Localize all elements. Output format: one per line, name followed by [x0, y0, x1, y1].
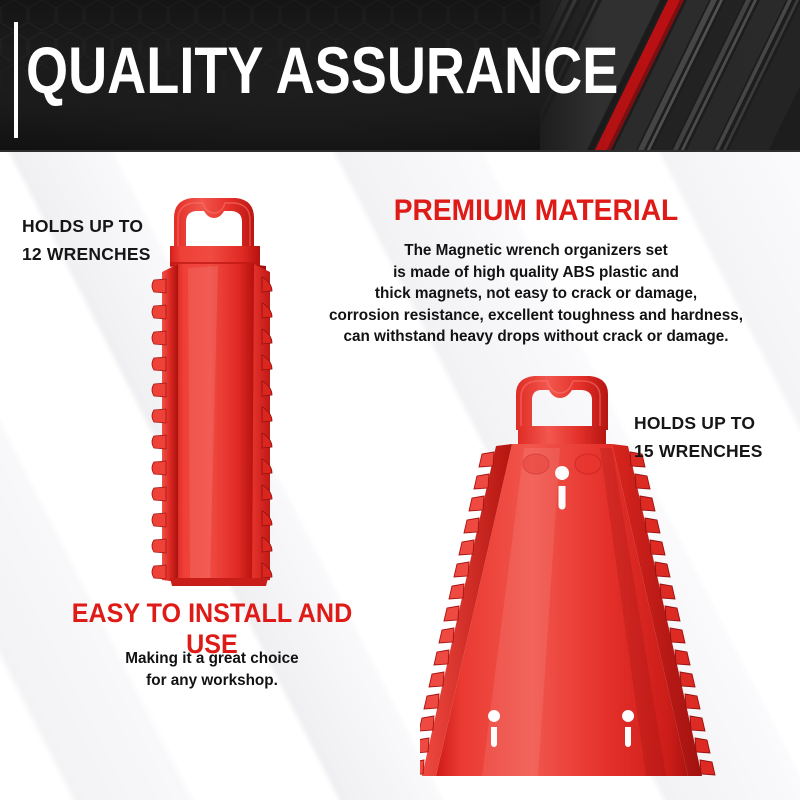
- page-title: QUALITY ASSURANCE: [26, 36, 618, 104]
- title-accent-bar: [14, 22, 18, 138]
- magnet-emboss-right: [575, 454, 601, 474]
- product-infographic: QUALITY ASSURANCE: [0, 0, 800, 800]
- product-image-12-wrench-organizer: [148, 188, 288, 593]
- paragraph-premium-material: The Magnetic wrench organizers set is ma…: [276, 240, 796, 348]
- callout-15-wrenches: HOLDS UP TO 15 WRENCHES: [634, 409, 763, 465]
- heading-premium-material: PREMIUM MATERIAL: [292, 194, 781, 228]
- paragraph-easy-to-install: Making it a great choice for any worksho…: [32, 648, 392, 691]
- callout-12-wrenches: HOLDS UP TO 12 WRENCHES: [22, 212, 151, 268]
- header-banner: QUALITY ASSURANCE: [0, 0, 800, 152]
